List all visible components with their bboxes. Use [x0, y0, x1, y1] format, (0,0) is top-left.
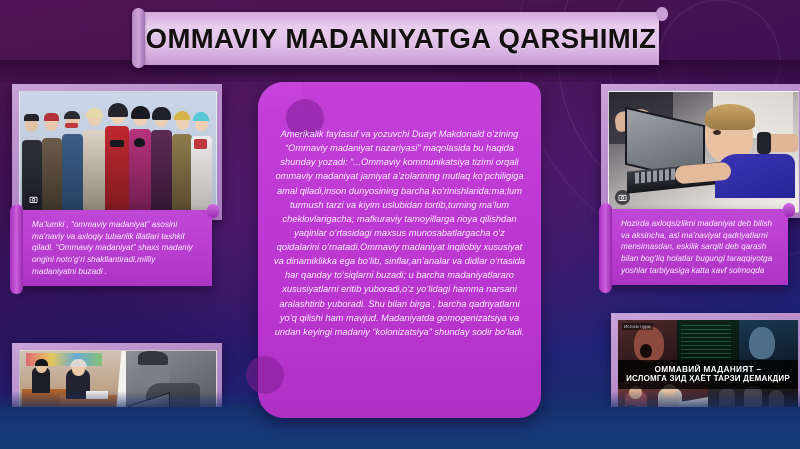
video-caption-line-2: ИСЛОМГА ЗИД ҲAЁТ ТАРЗИ ДЕМАКДИР	[620, 374, 796, 384]
page-title: OMMAVIY MADANIYATGA QARSHIMIZ	[146, 23, 657, 55]
banner-left-tab	[132, 8, 145, 68]
photo-content	[608, 91, 799, 213]
video-caption: ОММАВИЙ МАДАНИЯТ – ИСЛОМГА ЗИД ҲAЁТ ТАРЗ…	[618, 360, 798, 390]
panel-decoration-circle	[246, 356, 284, 394]
group-of-teenagers-photo	[12, 84, 222, 220]
banner-right-tab	[656, 7, 668, 21]
slide-title-banner: OMMAVIY MADANIYATGA QARSHIMIZ	[143, 12, 659, 65]
boy-at-laptop-photo	[601, 84, 800, 218]
right-text-content: Hozirda axloqsizlikni madaniyat deb bili…	[607, 209, 788, 285]
left-text-banner: Ma’lumki , “ommaviy madaniyat” asosini m…	[18, 210, 212, 286]
camera-icon	[26, 192, 41, 207]
video-watermark: Ислом нури	[622, 323, 653, 330]
camera-icon	[615, 190, 630, 205]
right-text-banner: Hozirda axloqsizlikni madaniyat deb bili…	[607, 209, 788, 285]
main-text-panel: Amerikalik faylasuf va yozuvchi Duayt Ma…	[258, 82, 541, 418]
video-caption-line-1: ОММАВИЙ МАДАНИЯТ –	[620, 364, 796, 374]
photo-content	[19, 91, 217, 215]
left-text-content: Ma’lumki , “ommaviy madaniyat” asosini m…	[18, 210, 212, 286]
main-text-content: Amerikalik faylasuf va yozuvchi Duayt Ma…	[258, 127, 541, 339]
presentation-slide: OMMAVIY MADANIYATGA QARSHIMIZ	[0, 0, 800, 449]
main-paragraph: Amerikalik faylasuf va yozuvchi Duayt Ma…	[272, 127, 527, 339]
